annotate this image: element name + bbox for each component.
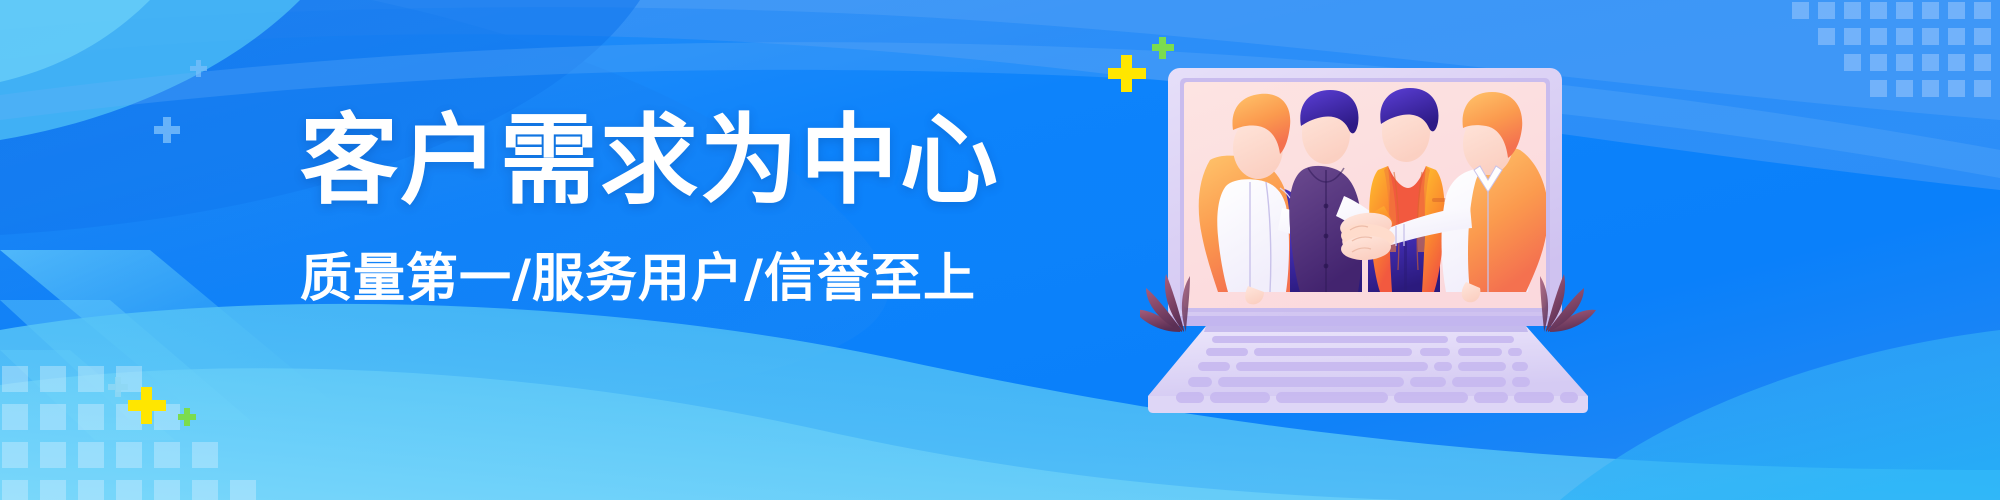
- laptop-lid-bottom-edge: [1168, 316, 1562, 326]
- banner-copy: 客户需求为中心 质量第一/服务用户/信誉至上: [300, 112, 1060, 311]
- dot-grid-bottom-left: [2, 366, 256, 500]
- sparkle-pale-upper-icon: [154, 117, 180, 143]
- sparkle-green-bottom-icon: [178, 408, 196, 426]
- laptop-hinge: [1204, 326, 1528, 332]
- banner-subtitle: 质量第一/服务用户/信誉至上: [300, 236, 1060, 311]
- sparkle-pale-mid-icon: [190, 60, 207, 77]
- laptop-team-illustration: [1140, 30, 1640, 430]
- promo-banner: 客户需求为中心 质量第一/服务用户/信誉至上: [0, 0, 2000, 500]
- dot-grid-top-right: [1792, 2, 1991, 97]
- page-title: 客户需求为中心: [300, 112, 1060, 210]
